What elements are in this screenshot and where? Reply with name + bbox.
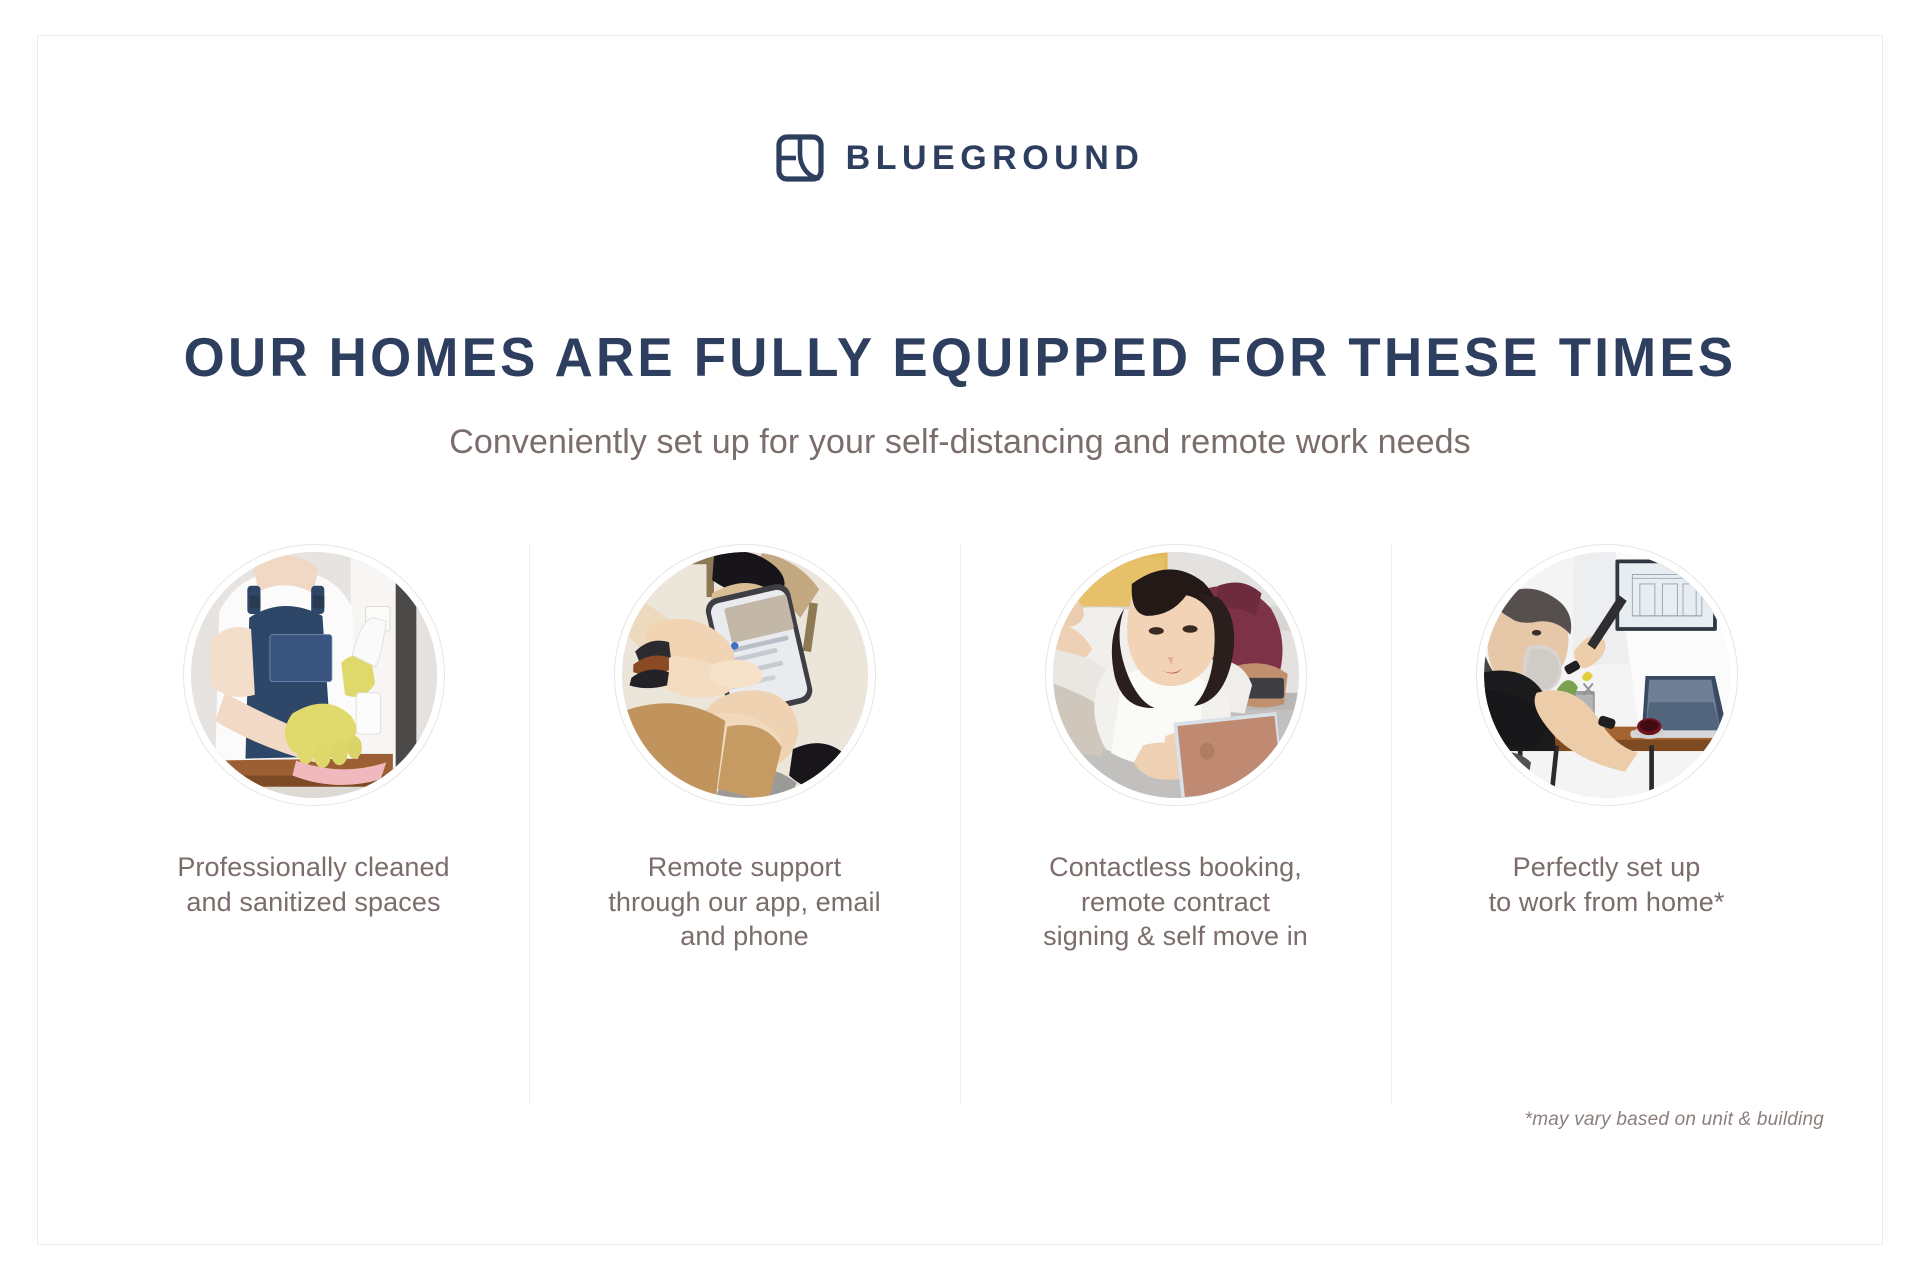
feature-column-3: Contactless booking, remote contract sig…: [960, 508, 1391, 1068]
caption-line: Professionally cleaned: [177, 850, 449, 885]
feature-image-ring-1: [183, 544, 445, 806]
page-subtitle: Conveniently set up for your self-distan…: [38, 422, 1882, 463]
feature-caption-2: Remote support through our app, email an…: [608, 850, 880, 954]
feature-columns: Professionally cleaned and sanitized spa…: [98, 508, 1822, 1068]
caption-line: to work from home*: [1489, 885, 1725, 920]
woman-on-bed-with-tablet-photo: [1053, 552, 1299, 798]
hands-holding-smartphone-photo: [622, 552, 868, 798]
feature-column-4: Perfectly set up to work from home*: [1391, 508, 1822, 1068]
feature-image-ring-4: [1476, 544, 1738, 806]
brand-name: BLUEGROUND: [846, 141, 1145, 175]
footnote-disclaimer: *may vary based on unit & building: [1525, 1109, 1824, 1131]
cleaner-sanitizing-counter-photo: [191, 552, 437, 798]
caption-line: Perfectly set up: [1489, 850, 1725, 885]
feature-image-ring-2: [614, 544, 876, 806]
caption-line: and phone: [608, 919, 880, 954]
caption-line: Contactless booking,: [1043, 850, 1308, 885]
feature-caption-1: Professionally cleaned and sanitized spa…: [177, 850, 449, 919]
blueground-square-mark-icon: [776, 134, 824, 182]
page-title: OUR HOMES ARE FULLY EQUIPPED FOR THESE T…: [75, 328, 1845, 387]
feature-column-2: Remote support through our app, email an…: [529, 508, 960, 1068]
caption-line: through our app, email: [608, 885, 880, 920]
man-working-at-desk-with-laptop-photo: [1484, 552, 1730, 798]
caption-line: and sanitized spaces: [177, 885, 449, 920]
caption-line: Remote support: [608, 850, 880, 885]
poster-canvas: BLUEGROUND OUR HOMES ARE FULLY EQUIPPED …: [37, 35, 1883, 1245]
feature-image-ring-3: [1045, 544, 1307, 806]
caption-line: remote contract: [1043, 885, 1308, 920]
feature-column-1: Professionally cleaned and sanitized spa…: [98, 508, 529, 1068]
brand-logo: BLUEGROUND: [38, 134, 1882, 182]
feature-caption-4: Perfectly set up to work from home*: [1489, 850, 1725, 919]
feature-caption-3: Contactless booking, remote contract sig…: [1043, 850, 1308, 954]
caption-line: signing & self move in: [1043, 919, 1308, 954]
